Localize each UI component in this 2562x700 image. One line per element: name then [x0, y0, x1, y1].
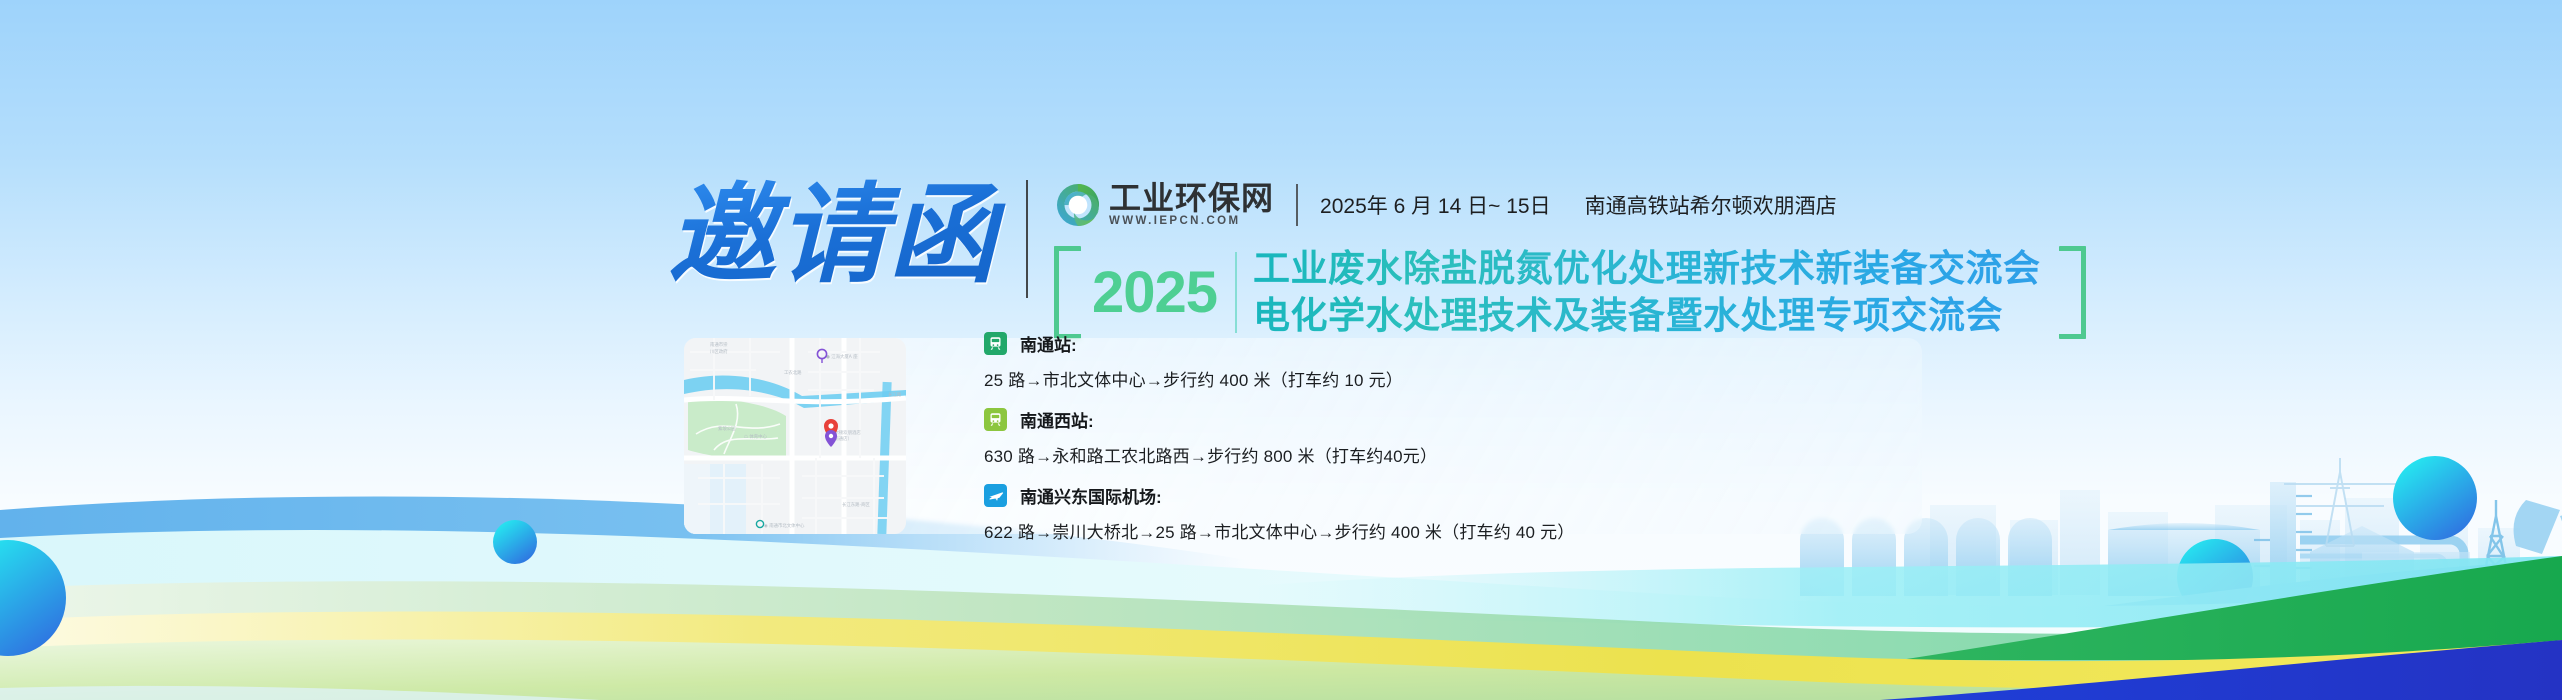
brand-logo[interactable]: 工业环保网 WWW.IEPCN.COM [1054, 181, 1274, 229]
route-name: 南通站: [1020, 331, 1077, 356]
event-year: 2025 [1076, 246, 1235, 339]
decor-sphere-right [2393, 456, 2477, 540]
circular-swirl-logo-icon [1054, 181, 1102, 229]
travel-info-panel: 南通市崇 川区政府 紫琅公园 ☖ 体育中心 ● 江海大厦A 座 希尔顿欢朋酒店 … [684, 338, 1922, 534]
svg-text:工农北路: 工农北路 [784, 369, 802, 376]
page-title: 邀请函 [668, 172, 1008, 298]
train-icon [984, 332, 1007, 355]
event-date: 2025年 6 月 14 日~ 15日 [1320, 190, 1551, 220]
bracket-right-icon [2059, 246, 2081, 339]
svg-text:● 江海大厦A 座: ● 江海大厦A 座 [826, 353, 858, 360]
svg-text:长江东路·商区: 长江东路·商区 [842, 501, 870, 508]
svg-text:☖ 体育中心: ☖ 体育中心 [744, 433, 768, 440]
map-graphic: 南通市崇 川区政府 紫琅公园 ☖ 体育中心 ● 江海大厦A 座 希尔顿欢朋酒店 … [684, 338, 906, 534]
train-icon [984, 408, 1007, 431]
route-description: 630 路→永和路工农北路西→步行约 800 米（打车约40元） [984, 442, 1914, 467]
meta-divider [1296, 184, 1298, 226]
route-name: 南通兴东国际机场: [1020, 483, 1162, 508]
brand-website: WWW.IEPCN.COM [1109, 215, 1274, 229]
route-description: 622 路→崇川大桥北→25 路→市北文体中心→步行约 400 米（打车约 40… [984, 518, 1914, 543]
invitation-banner: 邀请函 [0, 0, 2562, 700]
brand-meta-row: 工业环保网 WWW.IEPCN.COM 2025年 6 月 14 日~ 15日 … [1054, 178, 2081, 232]
airplane-icon [984, 484, 1007, 507]
brand-name: 工业环保网 [1109, 182, 1274, 216]
route-item-nantong-west-station: 南通西站: [984, 407, 1914, 432]
event-venue: 南通高铁站希尔顿欢朋酒店 [1585, 190, 1837, 220]
svg-text:长江路: 长江路 [888, 391, 902, 398]
conference-title-line-1: 工业废水除盐脱氮优化处理新技术新装备交流会 [1253, 246, 2041, 293]
bracket-left-icon [1054, 246, 1076, 339]
decor-sphere-mid [493, 520, 537, 564]
conference-title-block: 2025 工业废水除盐脱氮优化处理新技术新装备交流会 电化学水处理技术及装备暨水… [1054, 246, 2081, 339]
svg-text:南通市崇: 南通市崇 [710, 341, 728, 348]
banner-header: 邀请函 [668, 172, 2081, 339]
title-divider [1026, 180, 1028, 298]
route-item-nantong-station: 南通站: [984, 331, 1914, 356]
route-name: 南通西站: [1020, 407, 1094, 432]
svg-text:川区政府: 川区政府 [710, 348, 728, 355]
year-divider [1235, 252, 1237, 333]
svg-text:紫琅公园: 紫琅公园 [718, 425, 736, 432]
venue-location-map[interactable]: 南通市崇 川区政府 紫琅公园 ☖ 体育中心 ● 江海大厦A 座 希尔顿欢朋酒店 … [684, 338, 906, 534]
route-description: 25 路→市北文体中心→步行约 400 米（打车约 10 元） [984, 366, 1914, 391]
route-item-xingdong-airport: 南通兴东国际机场: [984, 483, 1914, 508]
svg-text:◉ 南通市北文体中心: ◉ 南通市北文体中心 [764, 522, 805, 529]
travel-routes-list: 南通站: 25 路→市北文体中心→步行约 400 米（打车约 10 元） 南通西… [984, 348, 1914, 526]
